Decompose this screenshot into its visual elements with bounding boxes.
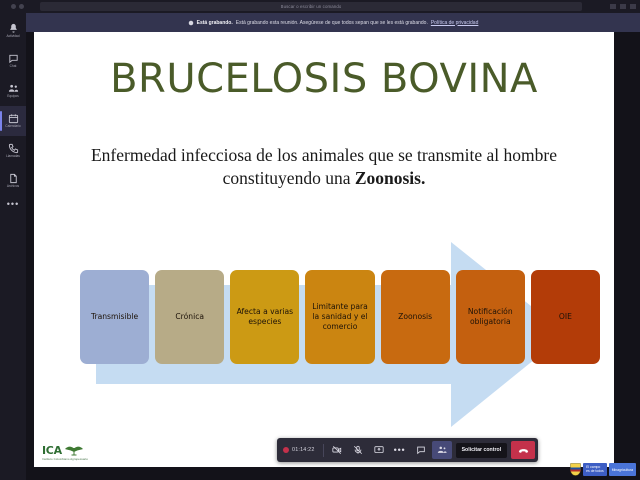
sidebar-item-label: Calendario bbox=[5, 125, 20, 128]
meeting-control-bar: 01:14:22 ••• bbox=[277, 438, 538, 462]
recording-banner: Está grabando. Está grabando esta reunió… bbox=[26, 13, 640, 32]
calendar-icon bbox=[8, 113, 19, 124]
phone-icon bbox=[8, 143, 19, 154]
minimize-icon[interactable] bbox=[610, 4, 616, 9]
sidebar-item-equipos[interactable]: Equipos bbox=[0, 76, 26, 106]
participants-button[interactable] bbox=[432, 441, 452, 459]
more-button[interactable]: ••• bbox=[390, 441, 410, 459]
slide-title: BRUCELOSIS BOVINA bbox=[34, 59, 614, 99]
control-divider bbox=[323, 444, 324, 457]
record-dot-icon bbox=[283, 447, 289, 453]
process-box-label: Zoonosis bbox=[398, 312, 432, 322]
gov-ministry-text: Minagricultura bbox=[612, 468, 633, 472]
recording-banner-strong: Está grabando. bbox=[197, 20, 233, 26]
forward-arrow-icon[interactable] bbox=[19, 4, 24, 9]
sidebar-item-label: Equipos bbox=[7, 95, 19, 98]
hangup-icon bbox=[518, 445, 529, 456]
slide-subtitle-line1: Enfermedad infecciosa de los animales qu… bbox=[91, 145, 499, 165]
gov-ministry: Minagricultura bbox=[609, 463, 636, 476]
mic-off-icon bbox=[353, 445, 363, 455]
share-button[interactable] bbox=[369, 441, 389, 459]
process-box: Limitante para la sanidad y el comercio bbox=[305, 270, 374, 364]
process-box-label: Afecta a varias especies bbox=[233, 307, 296, 327]
presentation-slide: BRUCELOSIS BOVINA Enfermedad infecciosa … bbox=[34, 32, 614, 467]
back-arrow-icon[interactable] bbox=[11, 4, 16, 9]
recording-icon bbox=[188, 20, 194, 26]
search-input[interactable]: Buscar o escribir un comando bbox=[40, 2, 582, 11]
process-box-label: OIE bbox=[559, 312, 572, 322]
process-box-label: Notificación obligatoria bbox=[459, 307, 522, 327]
window-titlebar: Buscar o escribir un comando bbox=[0, 0, 640, 13]
app-sidebar: Actividad Chat Equipos Calendario Llamad bbox=[0, 13, 26, 480]
bell-icon bbox=[8, 23, 19, 34]
titlebar-app-controls bbox=[0, 4, 34, 9]
request-control-label: Solicitar control bbox=[462, 447, 502, 453]
sidebar-item-llamadas[interactable]: Llamadas bbox=[0, 136, 26, 166]
sidebar-item-label: Actividad bbox=[7, 35, 20, 38]
sidebar-item-label: Llamadas bbox=[6, 155, 20, 158]
privacy-policy-link[interactable]: Política de privacidad bbox=[431, 20, 479, 26]
recording-banner-text: Está grabando esta reunión. Asegúrese de… bbox=[236, 20, 428, 26]
process-box: Transmisible bbox=[80, 270, 149, 364]
maximize-icon[interactable] bbox=[620, 4, 626, 9]
sidebar-item-actividad[interactable]: Actividad bbox=[0, 16, 26, 46]
process-box: OIE bbox=[531, 270, 600, 364]
files-icon bbox=[8, 173, 19, 184]
people-icon bbox=[437, 445, 447, 455]
search-placeholder: Buscar o escribir un comando bbox=[281, 4, 342, 9]
camera-button[interactable] bbox=[327, 441, 347, 459]
sidebar-item-archivos[interactable]: Archivos bbox=[0, 166, 26, 196]
process-box: Zoonosis bbox=[381, 270, 450, 364]
camera-off-icon bbox=[332, 445, 342, 455]
process-box-label: Limitante para la sanidad y el comercio bbox=[308, 302, 371, 332]
ica-logo: ICA Instituto Colombiano Agropecuario bbox=[42, 445, 88, 461]
window-buttons bbox=[588, 4, 640, 9]
slide-subtitle: Enfermedad infecciosa de los animales qu… bbox=[68, 144, 580, 190]
government-logo: El campo es de todos Minagricultura bbox=[570, 463, 636, 476]
process-box-label: Transmisible bbox=[91, 312, 138, 322]
slide-subtitle-emphasis: Zoonosis. bbox=[355, 168, 426, 188]
meeting-timer: 01:14:22 bbox=[292, 447, 315, 453]
process-box-label: Crónica bbox=[175, 312, 204, 322]
ica-acronym: ICA bbox=[42, 445, 62, 456]
teams-meeting-window: Buscar o escribir un comando Actividad C… bbox=[0, 0, 640, 480]
share-screen-icon bbox=[374, 445, 384, 455]
sidebar-item-label: Archivos bbox=[7, 185, 19, 188]
chat-bubble-icon bbox=[416, 445, 426, 455]
chat-button[interactable] bbox=[411, 441, 431, 459]
sidebar-item-calendario[interactable]: Calendario bbox=[0, 106, 26, 136]
request-control-button[interactable]: Solicitar control bbox=[456, 443, 508, 458]
hangup-button[interactable] bbox=[511, 441, 535, 459]
chat-icon bbox=[8, 53, 19, 64]
process-box: Afecta a varias especies bbox=[230, 270, 299, 364]
sidebar-more-apps-icon[interactable]: ••• bbox=[7, 200, 19, 209]
shared-content-stage: BRUCELOSIS BOVINA Enfermedad infecciosa … bbox=[26, 32, 640, 480]
ica-subtitle: Instituto Colombiano Agropecuario bbox=[42, 457, 88, 461]
bull-caduceus-icon bbox=[64, 445, 84, 456]
process-box: Notificación obligatoria bbox=[456, 270, 525, 364]
microphone-button[interactable] bbox=[348, 441, 368, 459]
gov-tagline-text: El campo es de todos bbox=[586, 466, 604, 474]
process-box: Crónica bbox=[155, 270, 224, 364]
sidebar-item-chat[interactable]: Chat bbox=[0, 46, 26, 76]
colombia-shield-icon bbox=[570, 463, 581, 476]
close-icon[interactable] bbox=[630, 4, 636, 9]
recording-indicator: 01:14:22 bbox=[280, 447, 320, 453]
teams-icon bbox=[8, 83, 19, 94]
gov-tagline: El campo es de todos bbox=[583, 463, 607, 476]
sidebar-item-label: Chat bbox=[10, 65, 17, 68]
process-box-list: Transmisible Crónica Afecta a varias esp… bbox=[80, 270, 600, 364]
